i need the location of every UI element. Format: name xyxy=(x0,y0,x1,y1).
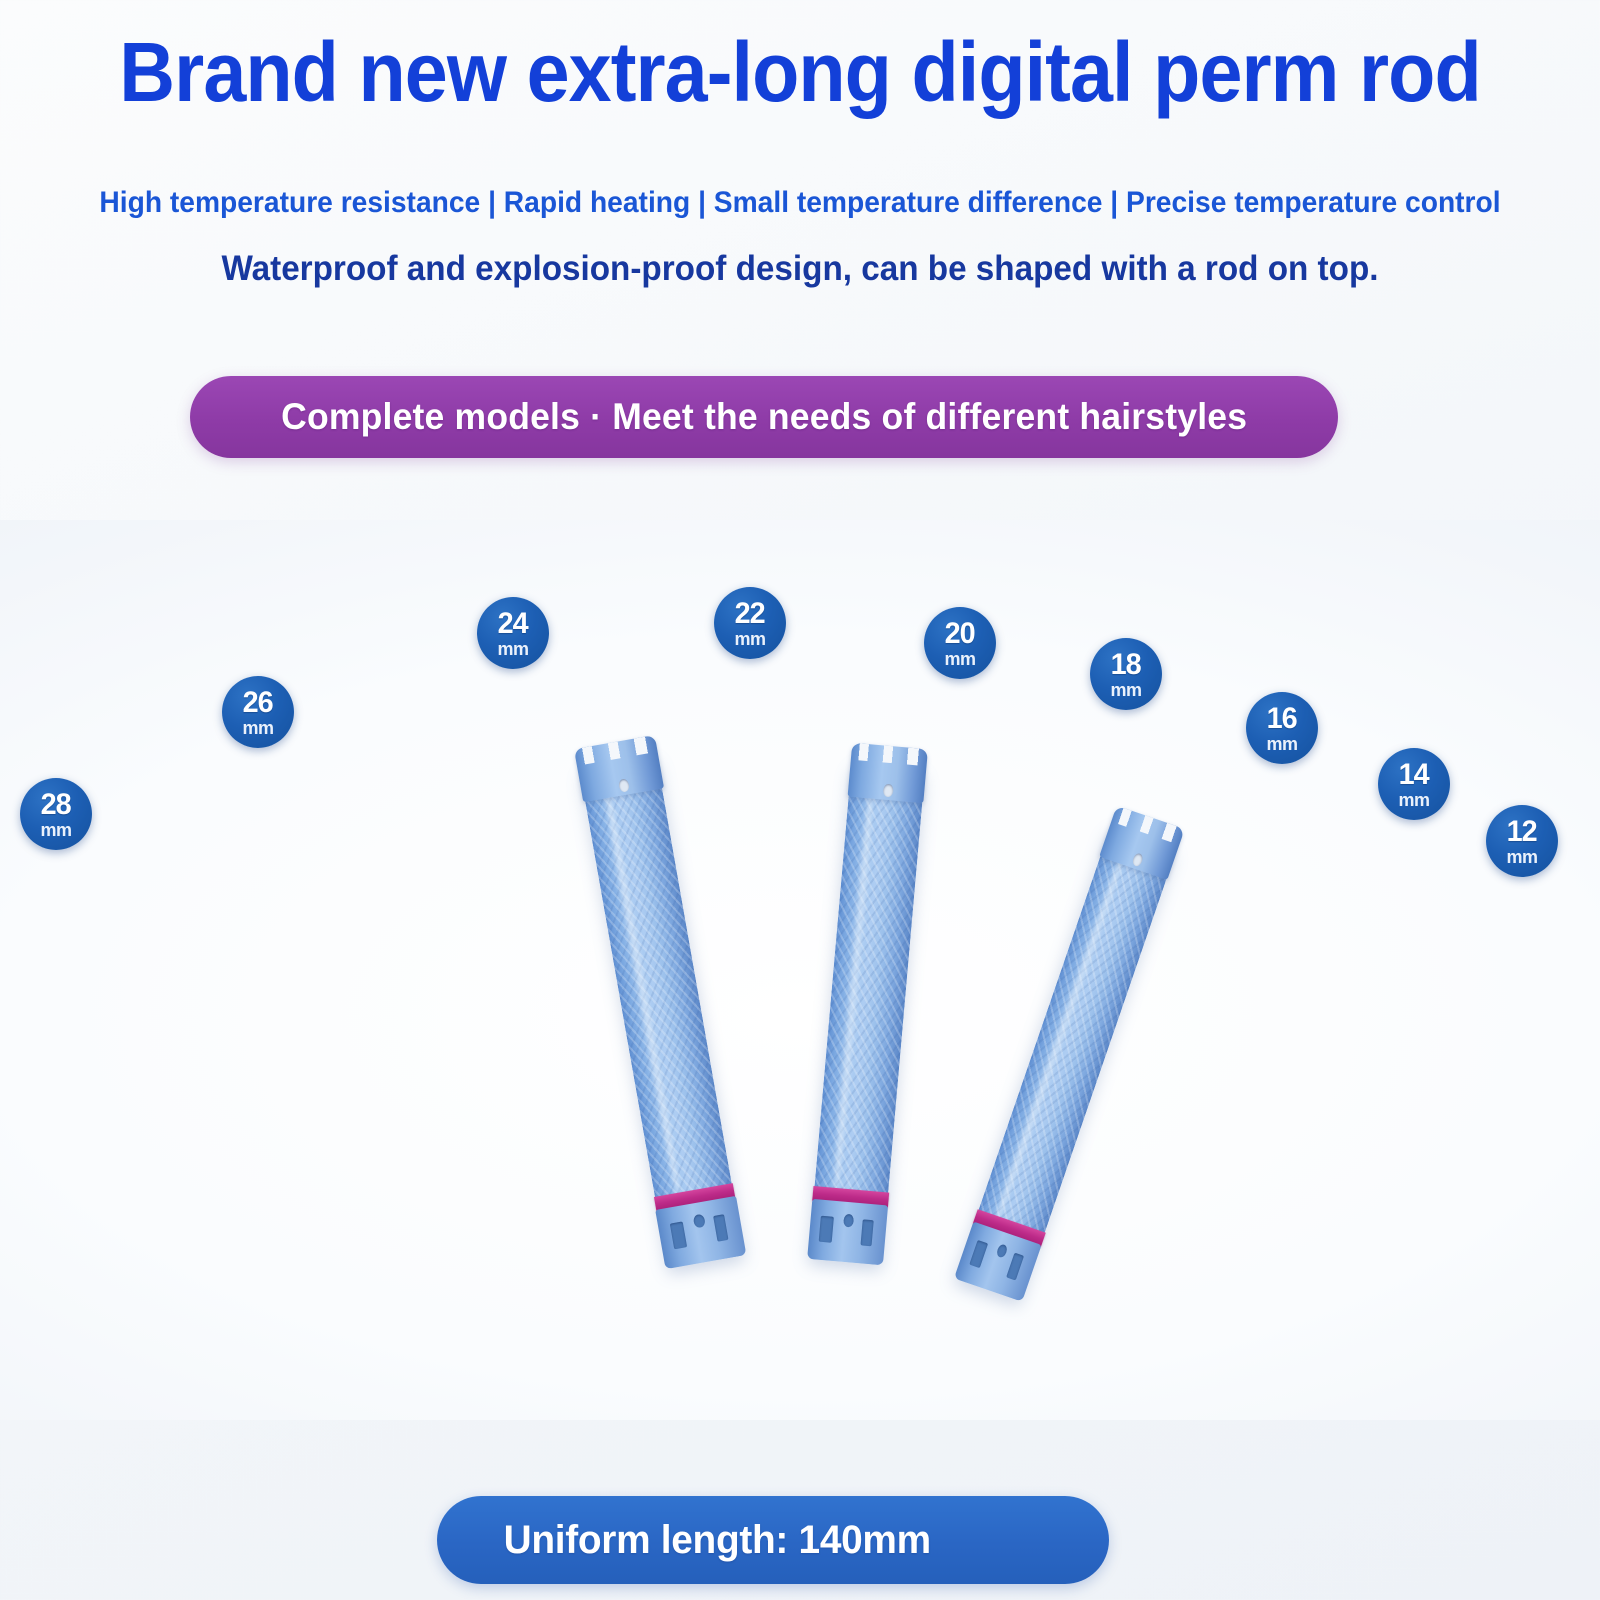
rod-base-slot xyxy=(860,1219,873,1246)
size-badge-value: 24 xyxy=(498,609,528,639)
rod-cap-teeth xyxy=(1544,1003,1600,1061)
rod-magenta-ring xyxy=(1388,1308,1432,1364)
rod-base-slot xyxy=(670,1221,687,1249)
perm-rod-12mm xyxy=(1340,1117,1600,1395)
rod-magenta-ring xyxy=(502,1207,582,1255)
perm-rod-14mm xyxy=(1234,1016,1588,1370)
rod-base-slot xyxy=(843,1214,854,1228)
size-badge-value: 14 xyxy=(1399,760,1429,790)
rod-base-slot xyxy=(819,1216,834,1243)
perm-rod-26mm xyxy=(59,935,425,1349)
size-badge-16mm: 16mm xyxy=(1246,692,1318,764)
rod-highlight xyxy=(1287,1038,1548,1299)
rod-base-slot xyxy=(1359,1330,1386,1352)
rod-body xyxy=(0,1026,213,1336)
size-badge-14mm: 14mm xyxy=(1378,748,1450,820)
perm-rod-18mm xyxy=(955,823,1178,1302)
size-badge-unit: mm xyxy=(497,640,528,658)
rod-base-slot xyxy=(341,1300,368,1329)
rod-base-slot xyxy=(1278,1311,1293,1326)
rod-top-cap xyxy=(1517,1003,1600,1087)
rod-body xyxy=(1234,1016,1588,1370)
rod-cap-hole xyxy=(364,852,379,868)
rod-base-slot xyxy=(358,1281,375,1298)
size-badge-unit: mm xyxy=(40,821,71,839)
rod-base xyxy=(656,1196,746,1269)
rod-top-cap xyxy=(313,803,411,887)
rod-base-slot xyxy=(545,1244,560,1260)
rod-highlight xyxy=(347,859,532,1236)
rod-base-slot xyxy=(565,1239,587,1267)
rod-cap-teeth xyxy=(313,803,396,854)
rod-cap-teeth xyxy=(46,920,124,989)
product-photo: 28mm26mm24mm22mm20mm18mm16mm14mm12mm xyxy=(0,520,1600,1420)
rod-top-cap xyxy=(46,920,148,1018)
size-badge-12mm: 12mm xyxy=(1486,805,1558,877)
rod-magenta-ring xyxy=(1139,1242,1204,1291)
rod-base-slot xyxy=(1152,1279,1167,1295)
rod-top-cap xyxy=(1338,902,1425,985)
size-badge-24mm: 24mm xyxy=(477,597,549,669)
rod-base xyxy=(115,1230,214,1338)
rod-base xyxy=(507,1218,608,1308)
size-badge-unit: mm xyxy=(242,719,273,737)
size-badge-unit: mm xyxy=(1266,735,1297,753)
rod-base-slot xyxy=(136,1291,166,1317)
feature-list-subtitle: High temperature resistance | Rapid heat… xyxy=(48,186,1552,220)
size-badge-unit: mm xyxy=(1110,681,1141,699)
size-badge-20mm: 20mm xyxy=(924,607,996,679)
uniform-length-label: Uniform length: 140mm xyxy=(504,1518,931,1563)
rod-base-slot xyxy=(1383,1342,1398,1356)
size-badge-unit: mm xyxy=(734,630,765,648)
rod-base xyxy=(321,1248,426,1350)
size-badge-value: 20 xyxy=(945,619,975,649)
uniform-length-banner: Uniform length: 140mm xyxy=(437,1496,1109,1584)
rod-base-slot xyxy=(1252,1300,1278,1326)
rod-highlight xyxy=(1395,1137,1600,1334)
rod-cap-hole xyxy=(1541,1051,1556,1066)
rod-base-slot xyxy=(1006,1253,1024,1281)
rod-body xyxy=(1108,918,1414,1340)
rod-base-slot xyxy=(1156,1292,1178,1319)
size-badge-22mm: 22mm xyxy=(714,587,786,659)
rod-base-slot xyxy=(524,1257,547,1286)
rod-magenta-ring xyxy=(313,1239,388,1306)
rod-body xyxy=(1340,1117,1600,1395)
models-banner-label: Complete models · Meet the needs of diff… xyxy=(281,396,1247,438)
design-subtitle: Waterproof and explosion-proof design, c… xyxy=(40,249,1560,289)
rod-base-slot xyxy=(1377,1356,1403,1377)
size-badge-value: 12 xyxy=(1507,817,1537,847)
perm-rod-24mm xyxy=(322,820,606,1307)
rod-base-slot xyxy=(1125,1272,1148,1300)
rod-base-slot xyxy=(147,1269,164,1286)
size-badge-28mm: 28mm xyxy=(20,778,92,850)
rod-base xyxy=(1107,1253,1197,1341)
perm-rod-16mm xyxy=(1108,918,1414,1340)
size-badge-value: 28 xyxy=(41,790,71,820)
rod-highlight xyxy=(1156,942,1370,1264)
size-badge-value: 22 xyxy=(735,599,765,629)
size-badge-26mm: 26mm xyxy=(222,676,294,748)
rod-magenta-ring xyxy=(1275,1274,1330,1329)
rod-body xyxy=(59,935,425,1349)
rod-cap-teeth xyxy=(1358,902,1425,954)
rod-base-slot xyxy=(693,1214,706,1229)
rod-base-slot xyxy=(969,1240,988,1268)
rod-base-slot xyxy=(713,1214,729,1242)
marketing-page: Brand new extra-long digital perm rod Hi… xyxy=(0,0,1600,1600)
perm-rod-28mm xyxy=(0,1026,213,1336)
rod-base-slot xyxy=(377,1270,403,1298)
rod-magenta-ring xyxy=(105,1223,165,1305)
rod-base xyxy=(1340,1314,1422,1396)
rod-base xyxy=(1233,1283,1321,1371)
perm-rod-fan: 28mm26mm24mm22mm20mm18mm16mm14mm12mm xyxy=(0,520,1600,1420)
rod-base-slot xyxy=(162,1252,191,1277)
rod-cap-teeth xyxy=(850,743,928,767)
rod-base-slot xyxy=(995,1243,1008,1258)
size-badge-unit: mm xyxy=(1398,791,1429,809)
size-badge-value: 16 xyxy=(1267,704,1297,734)
models-banner: Complete models · Meet the needs of diff… xyxy=(190,376,1338,458)
perm-rod-22mm xyxy=(579,753,744,1269)
size-badge-18mm: 18mm xyxy=(1090,638,1162,710)
size-badge-unit: mm xyxy=(1506,848,1537,866)
size-badge-unit: mm xyxy=(944,650,975,668)
rod-highlight xyxy=(85,983,343,1287)
rod-highlight xyxy=(0,1081,133,1287)
rod-base xyxy=(807,1199,889,1265)
rod-body xyxy=(322,820,606,1307)
perm-rod-20mm xyxy=(808,761,925,1266)
page-title: Brand new extra-long digital perm rod xyxy=(64,24,1536,121)
size-badge-value: 26 xyxy=(243,688,273,718)
rod-base-slot xyxy=(1277,1325,1302,1350)
rod-cap-hole xyxy=(101,972,118,989)
rod-cap-hole xyxy=(1366,952,1380,968)
rod-cap-teeth xyxy=(574,735,657,766)
size-badge-value: 18 xyxy=(1111,650,1141,680)
rod-cap-teeth xyxy=(1111,805,1185,845)
